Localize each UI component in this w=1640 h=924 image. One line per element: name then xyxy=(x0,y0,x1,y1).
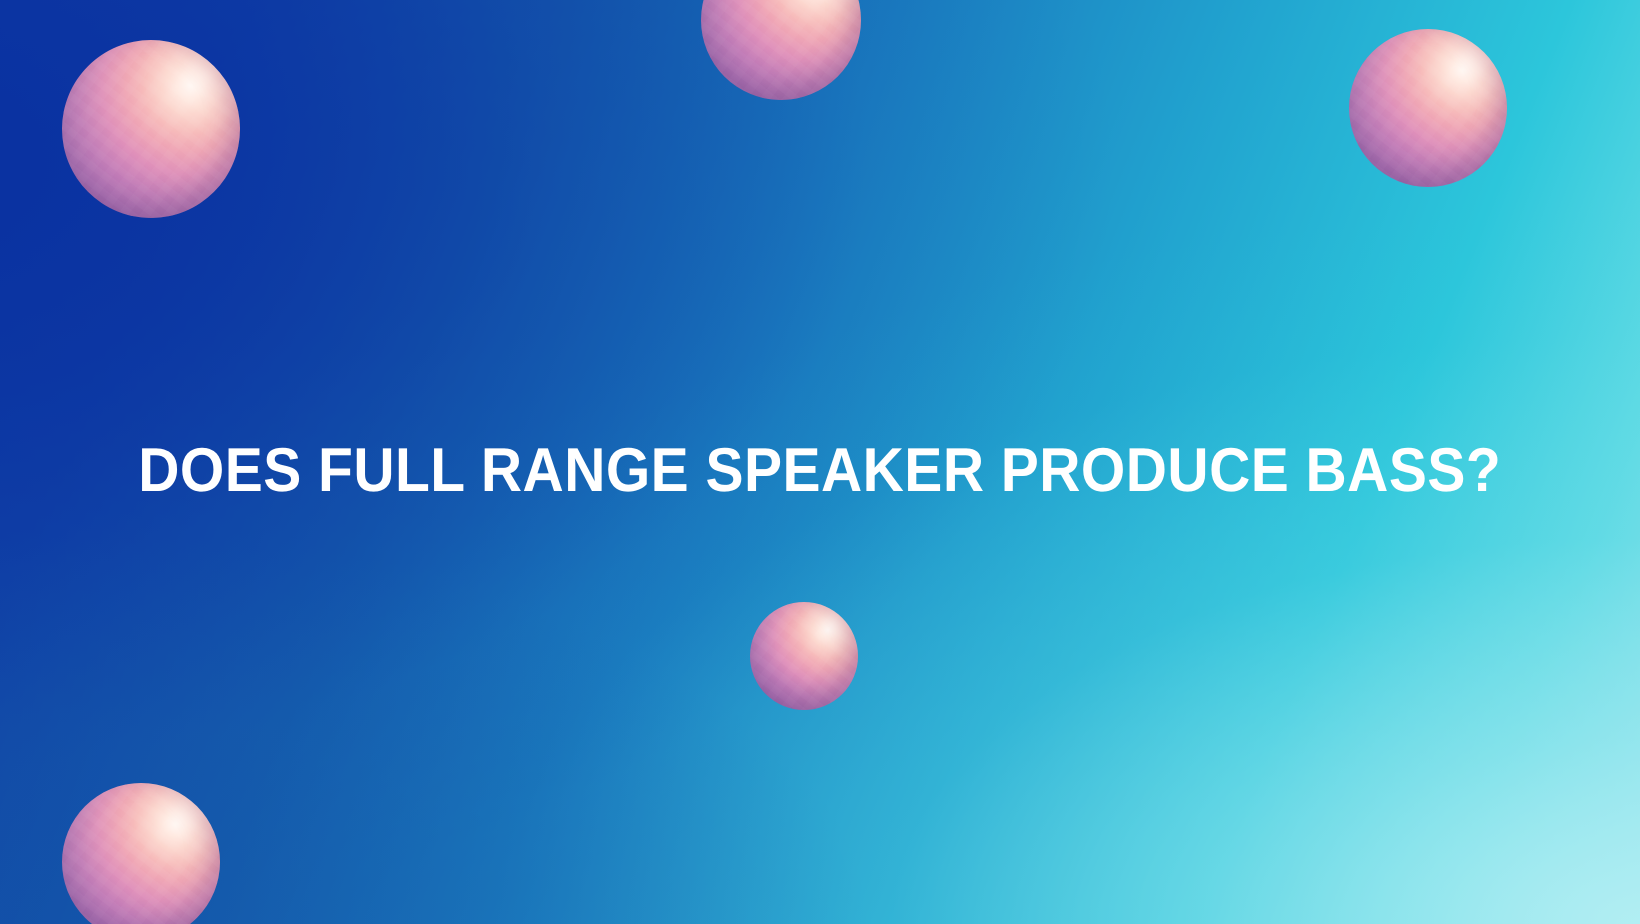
sphere-top-right xyxy=(1349,29,1507,187)
sphere-top-left xyxy=(62,40,240,218)
slide-canvas: Does Full Range Speaker Produce Bass? xyxy=(0,0,1640,924)
sphere-center xyxy=(750,602,858,710)
